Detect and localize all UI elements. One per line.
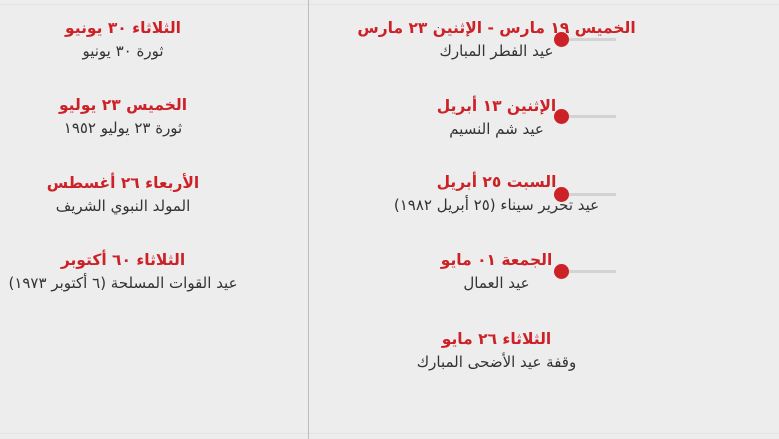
event-text-block: الخميس ١٩ مارس - الإثنين ٢٣ مارسعيد الفط… <box>309 16 684 63</box>
event-name: ثورة ٣٠ يونيو <box>0 40 248 63</box>
event-name: عيد شم النسيم <box>309 118 684 141</box>
event-text-block: الأربعاء ٢٦ أغسطسالمولد النبوي الشريف <box>0 171 248 218</box>
event-date: الثلاثاء ٢٦ مايو <box>309 327 684 351</box>
event-date: الجمعة ٠١ مايو <box>309 248 684 272</box>
event-date: الإثنين ١٣ أبريل <box>309 94 684 118</box>
event-text-block: الثلاثاء ٦٠ أكتوبرعيد القوات المسلحة (٦ … <box>0 248 248 295</box>
event-text-block: السبت ٢٥ أبريلعيد تحرير سيناء (٢٥ أبريل … <box>309 170 684 217</box>
timeline-column-right: الخميس ١٩ مارس - الإثنين ٢٣ مارسعيد الفط… <box>309 0 779 439</box>
event-text-block: الإثنين ١٣ أبريلعيد شم النسيم <box>309 94 684 141</box>
event-name: وقفة عيد الأضحى المبارك <box>309 351 684 374</box>
event-name: عيد العمال <box>309 272 684 295</box>
event-name: المولد النبوي الشريف <box>0 195 248 218</box>
event-date: الثلاثاء ٣٠ يونيو <box>0 16 248 40</box>
event-name: عيد القوات المسلحة (٦ أكتوبر ١٩٧٣) <box>0 272 248 295</box>
event-text-block: الجمعة ٠١ مايوعيد العمال <box>309 248 684 295</box>
event-date: الثلاثاء ٦٠ أكتوبر <box>0 248 248 272</box>
event-date: الخميس ١٩ مارس - الإثنين ٢٣ مارس <box>309 16 684 40</box>
timeline-column-left: الثلاثاء ٣٠ يونيوثورة ٣٠ يونيوالخميس ٢٣ … <box>0 0 308 439</box>
event-name: ثورة ٢٣ يوليو ١٩٥٢ <box>0 117 248 140</box>
event-text-block: الثلاثاء ٣٠ يونيوثورة ٣٠ يونيو <box>0 16 248 63</box>
event-date: السبت ٢٥ أبريل <box>309 170 684 194</box>
holidays-timeline: الثلاثاء ٣٠ يونيوثورة ٣٠ يونيوالخميس ٢٣ … <box>0 0 779 439</box>
event-text-block: الثلاثاء ٢٦ مايووقفة عيد الأضحى المبارك <box>309 327 684 374</box>
event-name: عيد الفطر المبارك <box>309 40 684 63</box>
event-date: الخميس ٢٣ يوليو <box>0 93 248 117</box>
event-date: الأربعاء ٢٦ أغسطس <box>0 171 248 195</box>
event-text-block: الخميس ٢٣ يوليوثورة ٢٣ يوليو ١٩٥٢ <box>0 93 248 140</box>
event-name: عيد تحرير سيناء (٢٥ أبريل ١٩٨٢) <box>309 194 684 217</box>
